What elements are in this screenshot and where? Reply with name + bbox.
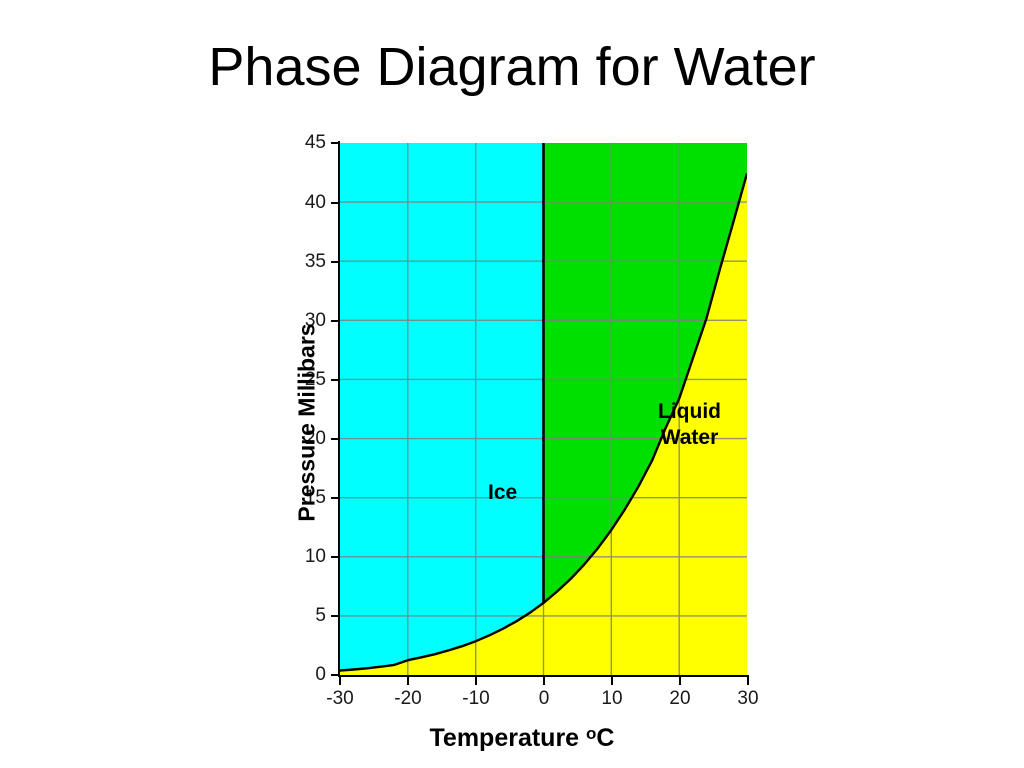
- region-label-liquid-water-line1: Liquid: [658, 399, 721, 425]
- y-tick-label-0: 0: [315, 664, 326, 686]
- region-liquid-water-shape: [544, 143, 748, 603]
- x-axis-title: Temperature oC: [262, 724, 782, 753]
- x-tick-label-neg30: -30: [326, 688, 353, 710]
- region-label-liquid-water-line2: Water: [658, 425, 721, 451]
- y-tick-10: [331, 556, 338, 558]
- x-tick-label-neg10: -10: [462, 688, 489, 710]
- x-tick-10: [611, 677, 613, 685]
- page-title: Phase Diagram for Water: [0, 36, 1024, 98]
- region-label-ice: Ice: [488, 480, 517, 506]
- y-tick-5: [331, 615, 338, 617]
- x-tick-neg10: [475, 677, 477, 685]
- y-axis-line: [338, 141, 340, 677]
- y-tick-30: [331, 320, 338, 322]
- y-tick-label-35: 35: [305, 251, 326, 273]
- plot-area: Ice Liquid Water Vapor: [340, 143, 747, 675]
- region-label-liquid-water: Liquid Water: [658, 399, 721, 450]
- x-tick-0: [543, 677, 545, 685]
- y-tick-label-45: 45: [305, 132, 326, 154]
- x-tick-label-0: 0: [539, 688, 550, 710]
- y-tick-label-40: 40: [305, 192, 326, 214]
- x-tick-30: [747, 677, 749, 685]
- y-tick-15: [331, 497, 338, 499]
- phase-diagram-figure: Ice Liquid Water Vapor 0 5 10 15 20 25 3…: [262, 126, 782, 766]
- x-tick-neg20: [407, 677, 409, 685]
- x-axis-title-text: Temperature: [430, 724, 587, 752]
- degree-symbol-icon: o: [586, 724, 596, 743]
- x-tick-label-10: 10: [601, 688, 622, 710]
- y-tick-35: [331, 261, 338, 263]
- x-tick-label-30: 30: [737, 688, 758, 710]
- y-tick-45: [331, 142, 338, 144]
- x-tick-label-neg20: -20: [394, 688, 421, 710]
- y-tick-0: [331, 674, 338, 676]
- y-tick-40: [331, 202, 338, 204]
- x-axis-title-unit: C: [596, 724, 614, 752]
- region-ice-shape: [340, 143, 544, 671]
- x-tick-label-20: 20: [669, 688, 690, 710]
- x-tick-20: [679, 677, 681, 685]
- y-axis-title: Pressure Millibars: [294, 293, 321, 553]
- y-tick-label-5: 5: [315, 605, 326, 627]
- x-tick-neg30: [339, 677, 341, 685]
- y-tick-20: [331, 438, 338, 440]
- y-tick-25: [331, 379, 338, 381]
